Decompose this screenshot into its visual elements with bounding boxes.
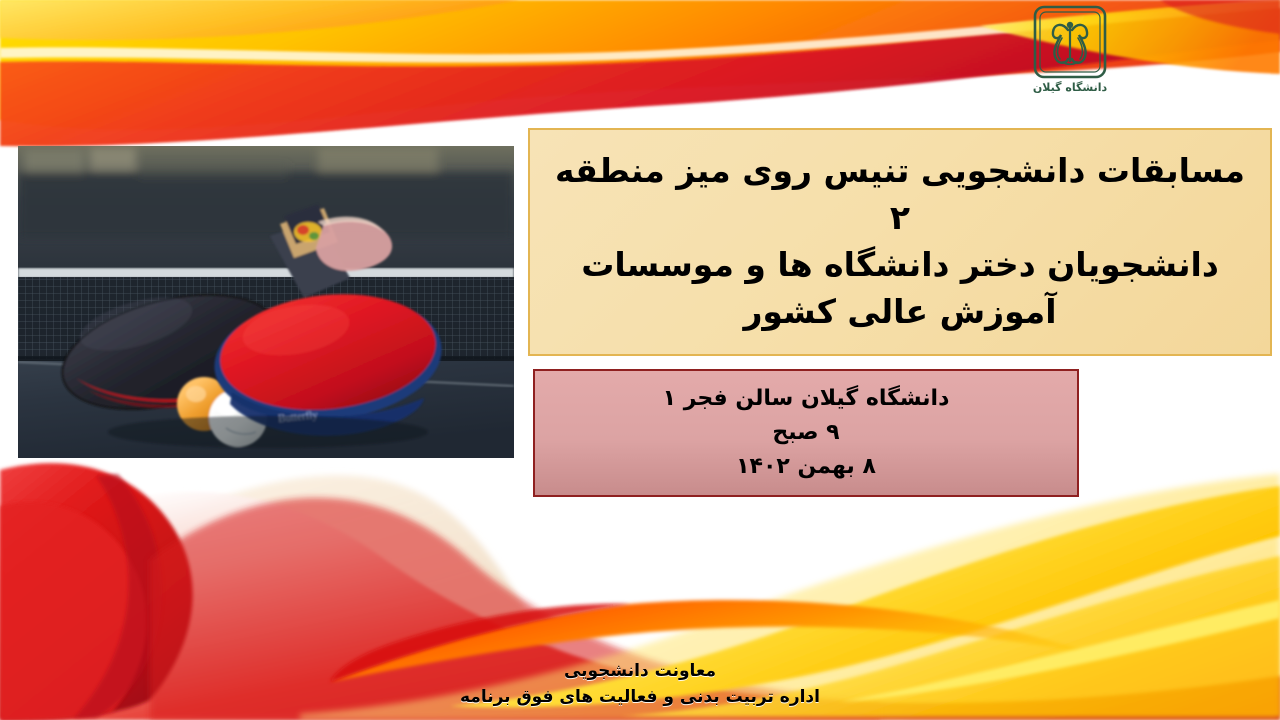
table-tennis-photo: Butterfly — [18, 146, 514, 458]
venue-location: دانشگاه گیلان سالن فجر ۱ — [663, 382, 950, 416]
organizer-footer: معاونت دانشجویی اداره تربیت بدنی و فعالی… — [0, 659, 1280, 710]
logo-caption: دانشگاه گیلان — [1021, 81, 1119, 94]
event-title-box: مسابقات دانشجویی تنیس روی میز منطقه ۲ دا… — [528, 128, 1272, 356]
venue-time: ۹ صبح — [772, 416, 839, 450]
gilan-emblem-icon — [1032, 4, 1108, 80]
event-title-text: مسابقات دانشجویی تنیس روی میز منطقه ۲ دا… — [530, 148, 1270, 335]
footer-line-deputy: معاونت دانشجویی — [0, 659, 1280, 685]
poster-canvas: Butterfly دانشگاه گیلان مسابقات دانشجو — [0, 0, 1280, 720]
footer-line-department: اداره تربیت بدنی و فعالیت های فوق برنامه — [0, 685, 1280, 711]
university-of-gilan-logo: دانشگاه گیلان — [1021, 4, 1119, 108]
venue-details-box: دانشگاه گیلان سالن فجر ۱ ۹ صبح ۸ بهمن ۱۴… — [533, 369, 1079, 497]
venue-date: ۸ بهمن ۱۴۰۲ — [736, 450, 876, 484]
